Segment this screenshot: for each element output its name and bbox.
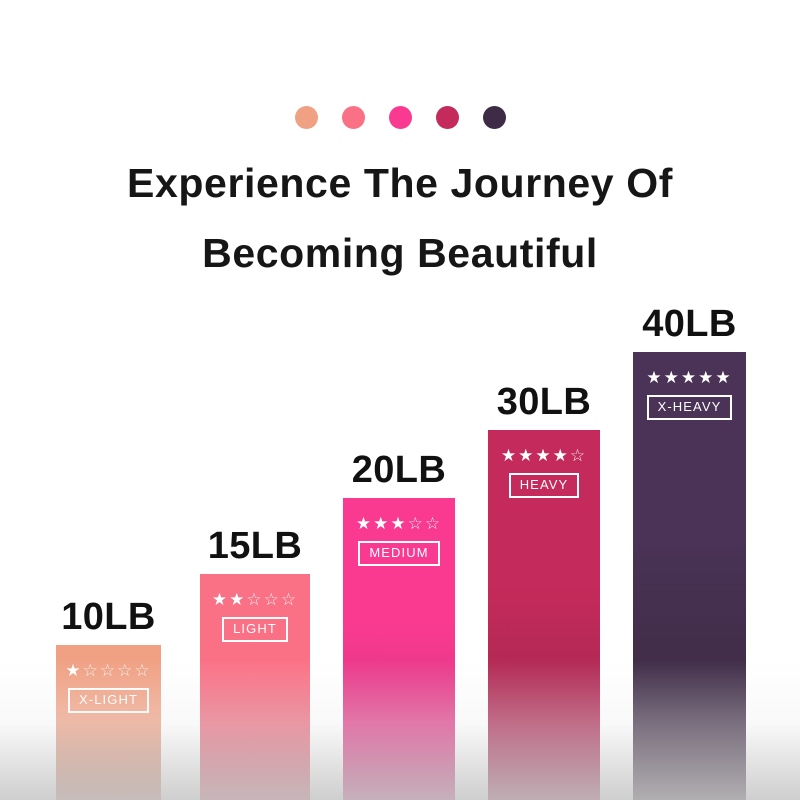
bar-group-20lb: 20LB★★★☆☆MEDIUM — [343, 498, 455, 800]
star-filled-icon: ★ — [373, 514, 390, 533]
bar-weight-label: 10LB — [30, 595, 187, 639]
resistance-level-badge: LIGHT — [222, 617, 288, 642]
star-filled-icon: ★ — [65, 661, 82, 680]
star-outline-icon: ☆ — [570, 446, 587, 465]
bar-badge: ★★☆☆☆LIGHT — [200, 590, 310, 642]
bar-badge: ★★★★☆HEAVY — [488, 446, 600, 498]
bar-group-30lb: 30LB★★★★☆HEAVY — [488, 430, 600, 800]
star-rating-4-of-5: ★★★★☆ — [488, 446, 600, 466]
page-title: Experience The Journey Of Becoming Beaut… — [0, 148, 800, 288]
bar-badge: ★★★★★X-HEAVY — [633, 368, 746, 420]
star-outline-icon: ☆ — [425, 514, 442, 533]
dot-heavy[interactable] — [436, 106, 459, 129]
bar-badge: ★☆☆☆☆X-LIGHT — [56, 661, 161, 713]
bar-weight-label: 30LB — [462, 380, 626, 424]
star-outline-icon: ☆ — [117, 661, 134, 680]
resistance-level-badge: MEDIUM — [358, 541, 439, 566]
bar-group-15lb: 15LB★★☆☆☆LIGHT — [200, 574, 310, 800]
star-outline-icon: ☆ — [246, 590, 263, 609]
bar-weight-label: 15LB — [174, 524, 336, 568]
star-filled-icon: ★ — [646, 368, 663, 387]
star-rating-3-of-5: ★★★☆☆ — [343, 514, 455, 534]
star-outline-icon: ☆ — [264, 590, 281, 609]
star-outline-icon: ☆ — [281, 590, 298, 609]
bar-10lb[interactable]: ★☆☆☆☆X-LIGHT — [56, 645, 161, 800]
star-filled-icon: ★ — [390, 514, 407, 533]
bar-15lb[interactable]: ★★☆☆☆LIGHT — [200, 574, 310, 800]
bar-weight-label: 20LB — [317, 448, 481, 492]
star-filled-icon: ★ — [518, 446, 535, 465]
star-rating-1-of-5: ★☆☆☆☆ — [56, 661, 161, 681]
star-outline-icon: ☆ — [100, 661, 117, 680]
star-filled-icon: ★ — [356, 514, 373, 533]
bar-group-10lb: 10LB★☆☆☆☆X-LIGHT — [56, 645, 161, 800]
star-filled-icon: ★ — [553, 446, 570, 465]
dot-medium[interactable] — [389, 106, 412, 129]
bar-weight-label: 40LB — [607, 302, 772, 346]
bar-40lb[interactable]: ★★★★★X-HEAVY — [633, 352, 746, 800]
bar-badge: ★★★☆☆MEDIUM — [343, 514, 455, 566]
dot-light[interactable] — [342, 106, 365, 129]
bar-group-40lb: 40LB★★★★★X-HEAVY — [633, 352, 746, 800]
bar-30lb[interactable]: ★★★★☆HEAVY — [488, 430, 600, 800]
star-rating-5-of-5: ★★★★★ — [633, 368, 746, 388]
star-filled-icon: ★ — [535, 446, 552, 465]
star-filled-icon: ★ — [501, 446, 518, 465]
star-filled-icon: ★ — [681, 368, 698, 387]
bar-20lb[interactable]: ★★★☆☆MEDIUM — [343, 498, 455, 800]
page-title-line-1: Experience The Journey Of — [0, 148, 800, 218]
resistance-level-badge: HEAVY — [509, 473, 580, 498]
star-filled-icon: ★ — [715, 368, 732, 387]
dot-x-heavy[interactable] — [483, 106, 506, 129]
resistance-level-badge: X-HEAVY — [647, 395, 733, 420]
star-filled-icon: ★ — [212, 590, 229, 609]
star-outline-icon: ☆ — [134, 661, 151, 680]
star-outline-icon: ☆ — [83, 661, 100, 680]
star-filled-icon: ★ — [664, 368, 681, 387]
star-outline-icon: ☆ — [408, 514, 425, 533]
page-title-line-2: Becoming Beautiful — [0, 218, 800, 288]
star-rating-2-of-5: ★★☆☆☆ — [200, 590, 310, 610]
resistance-level-badge: X-LIGHT — [68, 688, 149, 713]
star-filled-icon: ★ — [229, 590, 246, 609]
color-swatch-row — [0, 106, 800, 129]
star-filled-icon: ★ — [698, 368, 715, 387]
dot-x-light[interactable] — [295, 106, 318, 129]
product-poster: Experience The Journey Of Becoming Beaut… — [0, 0, 800, 800]
